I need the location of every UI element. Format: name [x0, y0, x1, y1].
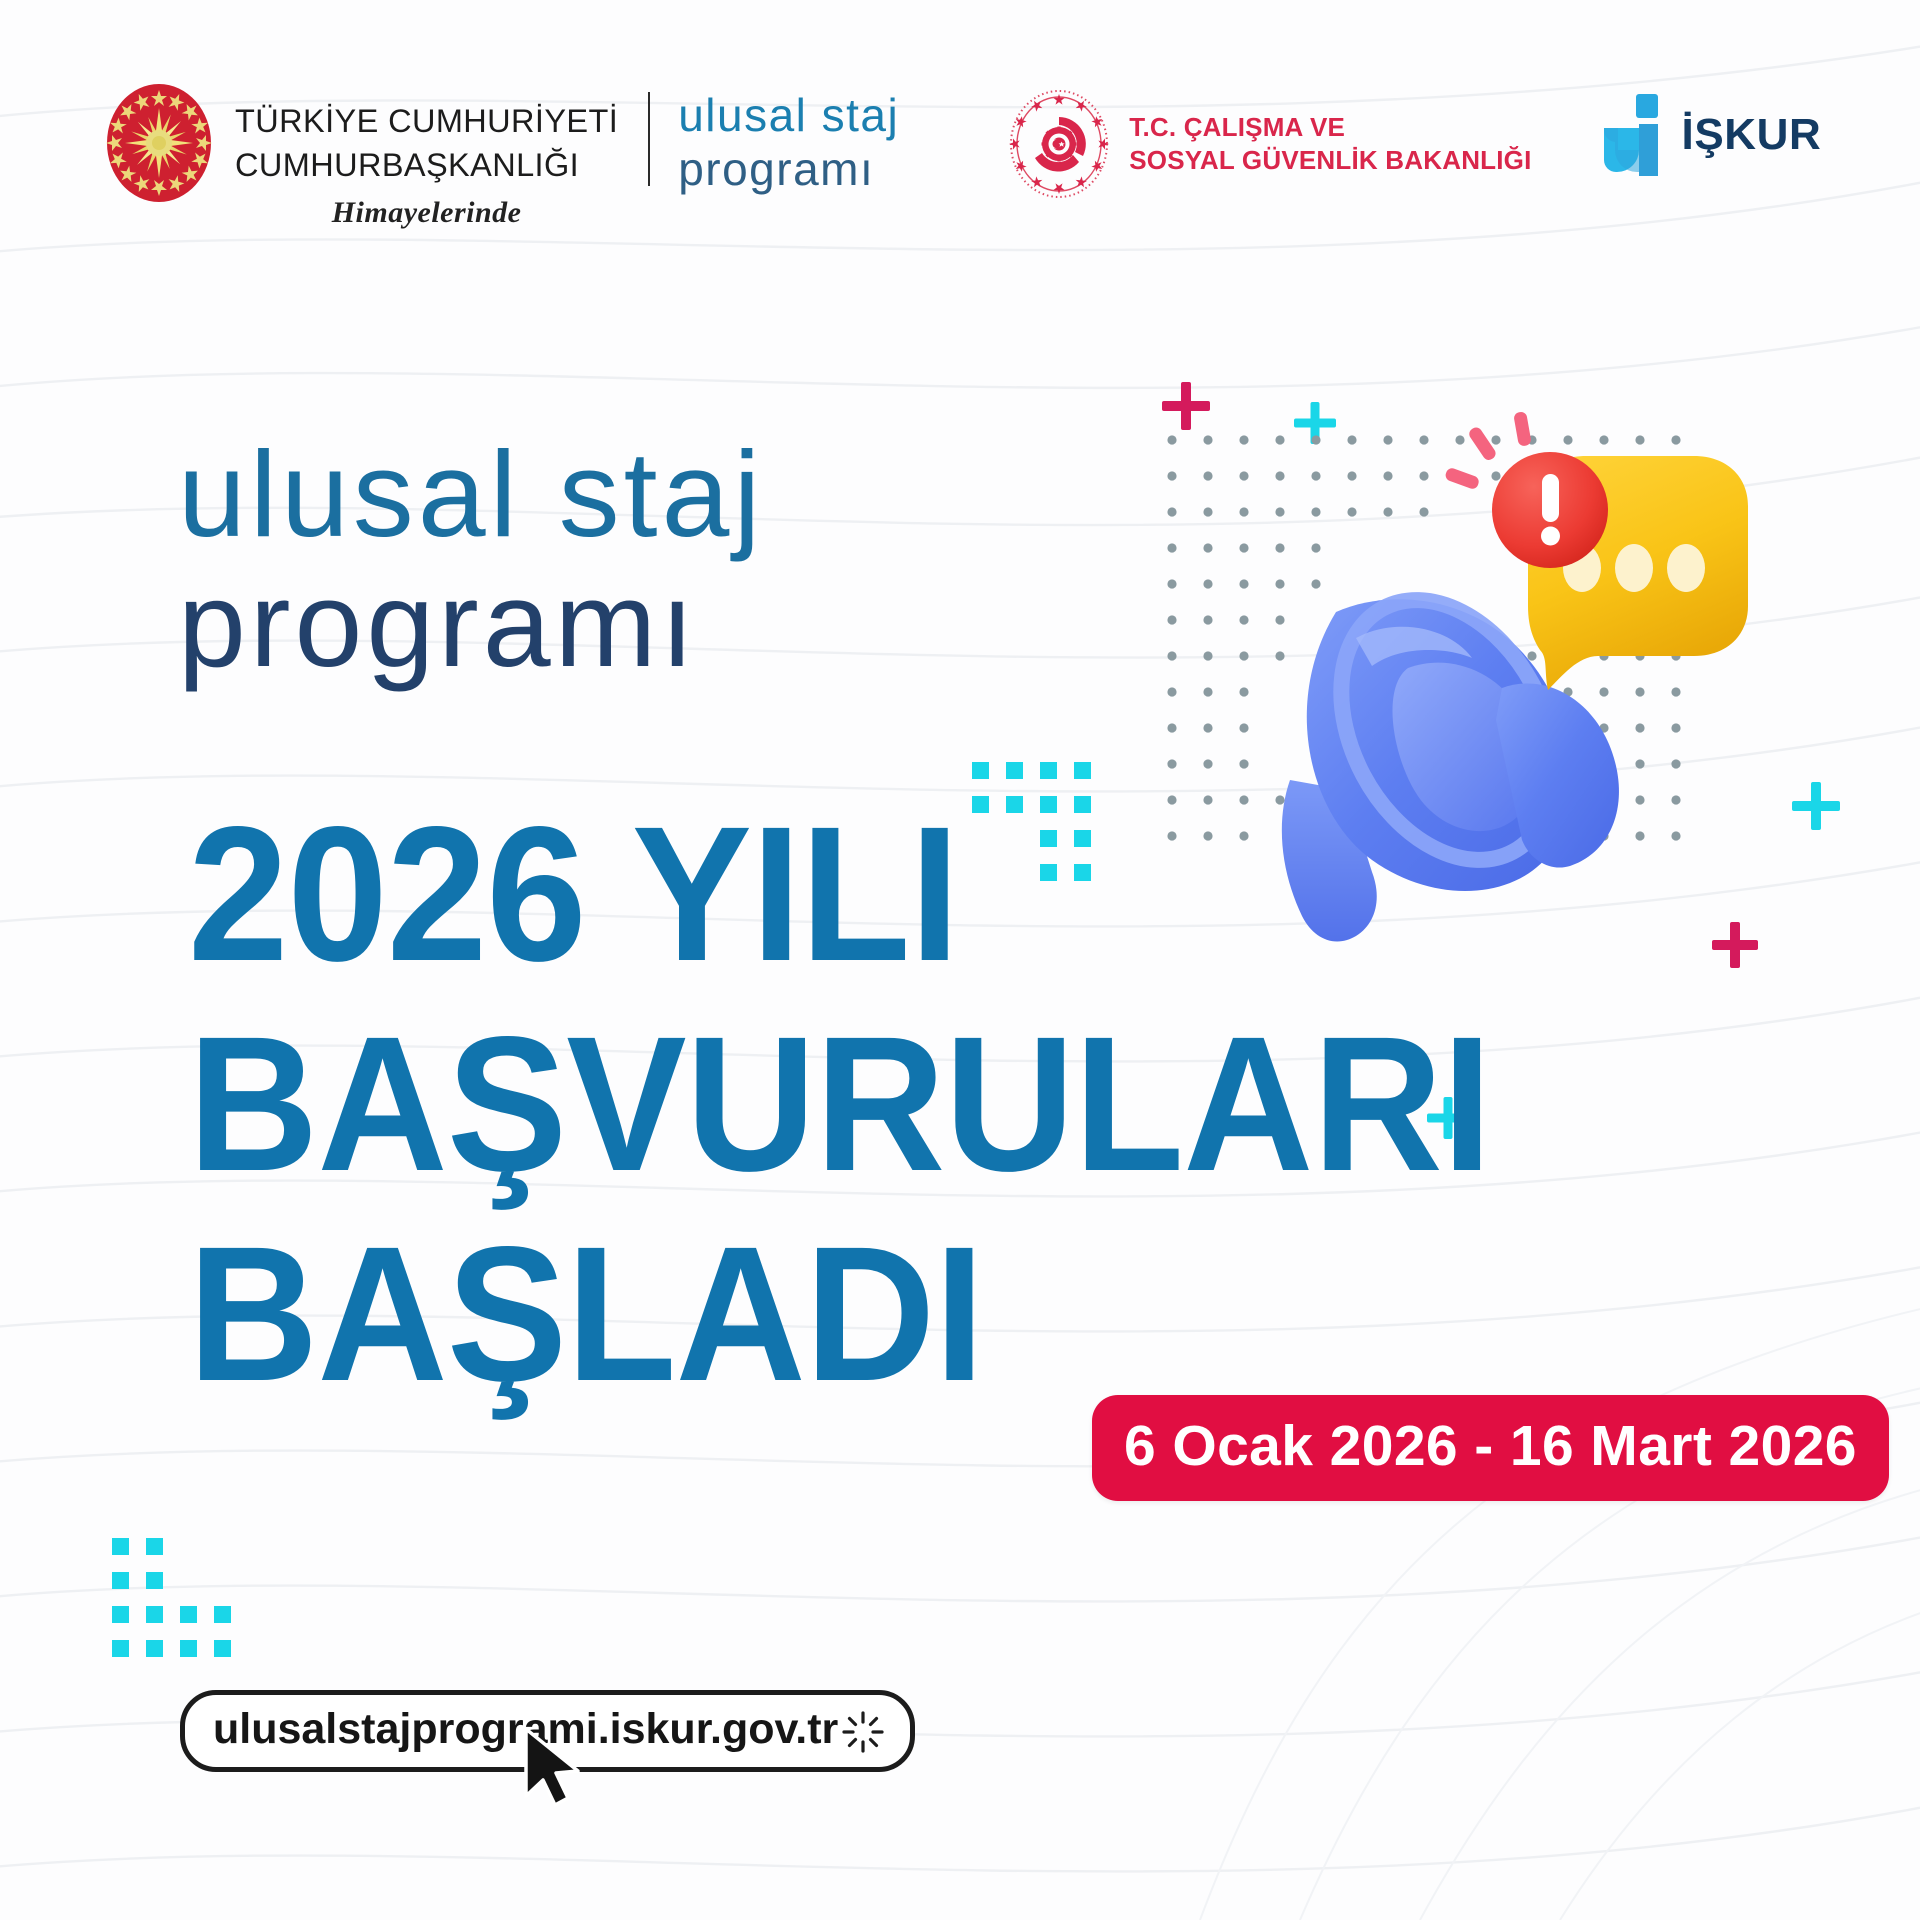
header-logo-strip: TÜRKİYE CUMHURİYETİ CUMHURBAŞKANLIĞI Him…: [105, 78, 1860, 228]
click-burst-icon: [842, 1711, 884, 1753]
ministry-line-2: SOSYAL GÜVENLİK BAKANLIĞI: [1129, 144, 1531, 177]
ministry-line-1: T.C. ÇALIŞMA VE: [1129, 111, 1531, 144]
iskur-logo-block: İŞKUR: [1598, 78, 1822, 178]
iskur-logo-icon: [1598, 92, 1670, 178]
header-divider: [648, 92, 650, 186]
exclamation-alert-icon: [1444, 411, 1608, 568]
turkish-presidency-seal-icon: [105, 82, 213, 204]
presidency-title: TÜRKİYE CUMHURİYETİ CUMHURBAŞKANLIĞI: [235, 78, 618, 187]
date-range-badge: 6 Ocak 2026 - 16 Mart 2026: [1092, 1395, 1889, 1501]
date-range-label: 6 Ocak 2026 - 16 Mart 2026: [1124, 1418, 1857, 1475]
ministry-of-labour-seal-icon: [1007, 88, 1111, 200]
headline-line-2: BAŞVURULARI: [188, 1010, 1491, 1198]
presidency-logo-block: TÜRKİYE CUMHURİYETİ CUMHURBAŞKANLIĞI Him…: [105, 78, 618, 230]
program-wordmark-small-line-2: programı: [678, 146, 899, 192]
ministry-title: T.C. ÇALIŞMA VE SOSYAL GÜVENLİK BAKANLIĞ…: [1129, 111, 1531, 177]
presidency-line-2: CUMHURBAŞKANLIĞI: [235, 144, 618, 188]
headline-line-1: 2026 YILI: [188, 800, 1491, 988]
headline-line-3: BAŞLADI: [188, 1220, 1491, 1408]
mouse-cursor-icon: [520, 1726, 586, 1808]
program-wordmark-large-line-2: programı: [178, 568, 765, 680]
iskur-label: İŞKUR: [1682, 110, 1822, 160]
program-wordmark-large-line-1: ulusal staj: [178, 438, 765, 550]
presidency-patronage-text: Himayelerinde: [235, 196, 618, 230]
program-wordmark-small-line-1: ulusal staj: [678, 92, 899, 138]
poster-canvas: TÜRKİYE CUMHURİYETİ CUMHURBAŞKANLIĞI Him…: [0, 0, 1920, 1920]
program-wordmark-small: ulusal staj programı: [678, 78, 899, 192]
ministry-logo-block: T.C. ÇALIŞMA VE SOSYAL GÜVENLİK BAKANLIĞ…: [1007, 78, 1531, 200]
program-wordmark-large: ulusal staj programı: [178, 438, 765, 680]
square-grid-accent-icon-lower: [112, 1538, 232, 1658]
page-title: 2026 YILI BAŞVURULARI BAŞLADI: [188, 800, 1574, 1408]
presidency-line-1: TÜRKİYE CUMHURİYETİ: [235, 100, 618, 144]
